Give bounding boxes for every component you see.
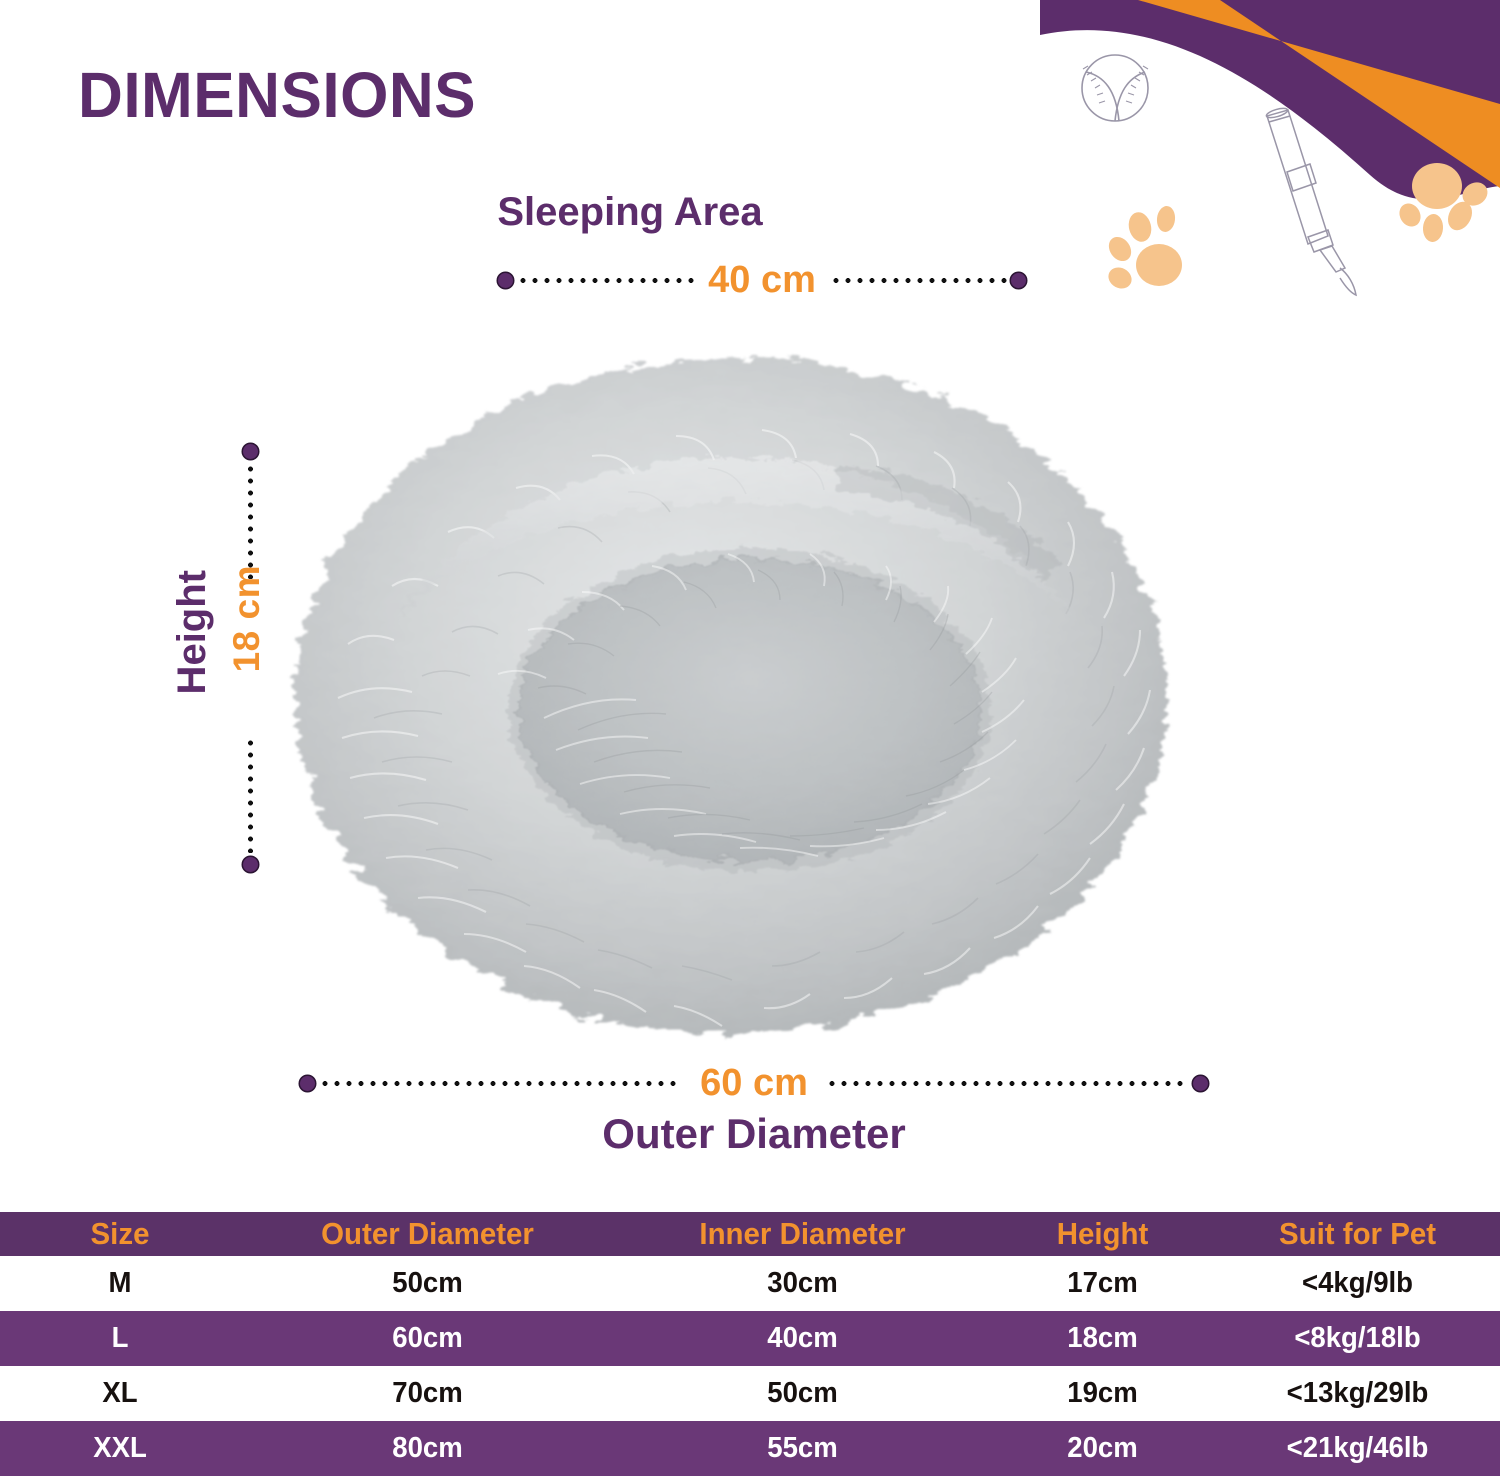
dimension-dotted-line-vertical <box>248 737 253 853</box>
cell-size: L <box>6 1311 234 1366</box>
dimension-dotted-line <box>826 1081 1189 1086</box>
sleeping-area-label-text: Sleeping Area <box>497 190 762 234</box>
table-row: L 60cm 40cm 18cm <8kg/18lb <box>0 1311 1500 1366</box>
purple-swoosh-shape <box>1040 0 1500 199</box>
pet-bed-image <box>278 318 1184 1048</box>
cell-suit: <13kg/29lb <box>1222 1366 1493 1421</box>
dimension-endpoint-dot <box>1011 273 1026 288</box>
outer-diameter-label: Outer Diameter <box>300 1110 1208 1158</box>
cell-height: 19cm <box>996 1366 1210 1421</box>
table-header-row: Size Outer Diameter Inner Diameter Heigh… <box>0 1212 1500 1256</box>
cell-inner: 55cm <box>624 1421 980 1476</box>
sleeping-area-dimension-line: 40 cm <box>498 258 1026 302</box>
height-label: Height <box>172 570 212 694</box>
cell-outer: 50cm <box>249 1256 605 1311</box>
sleeping-area-value: 40 cm <box>698 261 826 299</box>
cell-size: XL <box>6 1366 234 1421</box>
column-header-height: Height <box>996 1212 1210 1256</box>
orange-swoosh-shape <box>1138 0 1500 188</box>
cell-outer: 60cm <box>249 1311 605 1366</box>
cell-size: M <box>6 1256 234 1311</box>
dimension-dotted-line <box>319 1081 682 1086</box>
cell-height: 17cm <box>996 1256 1210 1311</box>
tennis-ball-icon <box>1082 55 1148 121</box>
cell-inner: 50cm <box>624 1366 980 1421</box>
outer-diameter-dimension-line: 60 cm <box>300 1061 1208 1105</box>
cell-inner: 30cm <box>624 1256 980 1311</box>
dimension-endpoint-dot <box>243 857 258 872</box>
dimension-endpoint-dot <box>1193 1076 1208 1091</box>
table-row: M 50cm 30cm 17cm <4kg/9lb <box>0 1256 1500 1311</box>
cell-height: 20cm <box>996 1421 1210 1476</box>
dimension-endpoint-dot <box>300 1076 315 1091</box>
column-header-outer: Outer Diameter <box>249 1212 605 1256</box>
cell-suit: <21kg/46lb <box>1222 1421 1493 1476</box>
cell-height: 18cm <box>996 1311 1210 1366</box>
cell-outer: 80cm <box>249 1421 605 1476</box>
outer-diameter-value: 60 cm <box>686 1064 822 1102</box>
cell-inner: 40cm <box>624 1311 980 1366</box>
column-header-inner: Inner Diameter <box>624 1212 980 1256</box>
outer-diameter-label-text: Outer Diameter <box>602 1110 905 1157</box>
cell-size: XXL <box>6 1421 234 1476</box>
column-header-suit: Suit for Pet <box>1222 1212 1493 1256</box>
table-row: XXL 80cm 55cm 20cm <21kg/46lb <box>0 1421 1500 1476</box>
table-row: XL 70cm 50cm 19cm <13kg/29lb <box>0 1366 1500 1421</box>
cell-outer: 70cm <box>249 1366 605 1421</box>
dimension-endpoint-dot <box>498 273 513 288</box>
page-title: DIMENSIONS <box>78 58 476 132</box>
dimension-dotted-line <box>517 278 694 283</box>
size-chart-table: Size Outer Diameter Inner Diameter Heigh… <box>0 1212 1500 1476</box>
dimension-dotted-line <box>830 278 1007 283</box>
dimension-dotted-line-vertical <box>248 463 253 579</box>
height-value: 18 cm <box>228 565 265 672</box>
sleeping-area-label: Sleeping Area <box>0 190 1500 235</box>
cell-suit: <4kg/9lb <box>1222 1256 1493 1311</box>
cell-suit: <8kg/18lb <box>1222 1311 1493 1366</box>
corner-decoration <box>1040 0 1500 300</box>
column-header-size: Size <box>6 1212 234 1256</box>
dimension-endpoint-dot <box>243 444 258 459</box>
